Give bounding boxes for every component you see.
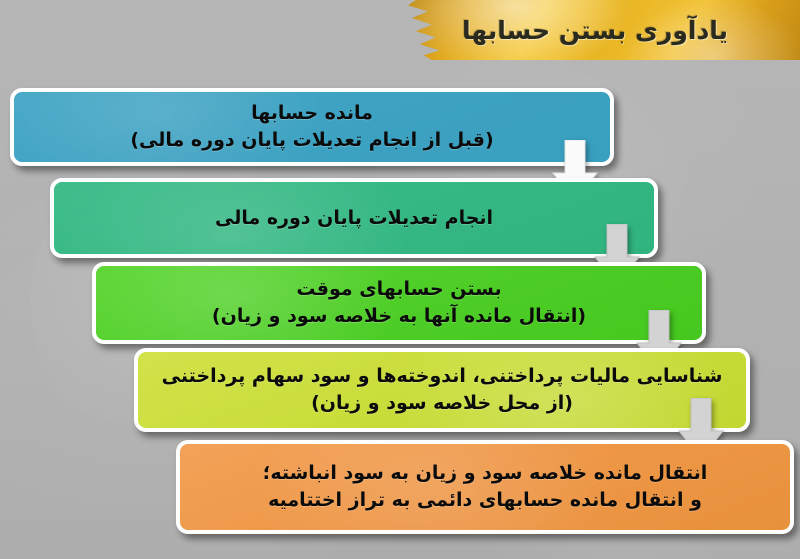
- flow-step-line: مانده حسابها: [251, 100, 373, 127]
- flow-step-line: (از محل خلاصه سود و زیان): [311, 390, 573, 417]
- flow-step-line: شناسایی مالیات پرداختنی، اندوخته‌ها و سو…: [162, 363, 723, 390]
- flow-step-line: (قبل از انجام تعدیلات پایان دوره مالی): [130, 127, 493, 154]
- flow-step-recognize-tax-reserves-dividends[interactable]: شناسایی مالیات پرداختنی، اندوخته‌ها و سو…: [134, 348, 750, 432]
- flow-step-line: انتقال مانده خلاصه سود و زیان به سود انب…: [263, 460, 708, 487]
- flow-step-year-end-adjustments[interactable]: انجام تعدیلات پایان دوره مالی: [50, 178, 658, 258]
- flow-step-line: و انتقال مانده حسابهای دائمی به تراز اخت…: [268, 487, 702, 514]
- flow-step-line: (انتقال مانده آنها به خلاصه سود و زیان): [212, 303, 586, 330]
- slide-title: یادآوری بستن حسابها: [462, 16, 742, 45]
- flow-step-account-balances[interactable]: مانده حسابها (قبل از انجام تعدیلات پایان…: [10, 88, 614, 166]
- flow-step-transfer-to-retained-earnings-and-closing-balance[interactable]: انتقال مانده خلاصه سود و زیان به سود انب…: [176, 440, 794, 534]
- flow-step-line: انجام تعدیلات پایان دوره مالی: [215, 205, 493, 232]
- flow-step-line: بستن حسابهای موقت: [296, 276, 501, 303]
- title-banner: یادآوری بستن حسابها: [404, 0, 800, 60]
- flow-step-close-temporary-accounts[interactable]: بستن حسابهای موقت (انتقال مانده آنها به …: [92, 262, 706, 344]
- slide-canvas: یادآوری بستن حسابها مانده حسابها (قبل از…: [0, 0, 800, 559]
